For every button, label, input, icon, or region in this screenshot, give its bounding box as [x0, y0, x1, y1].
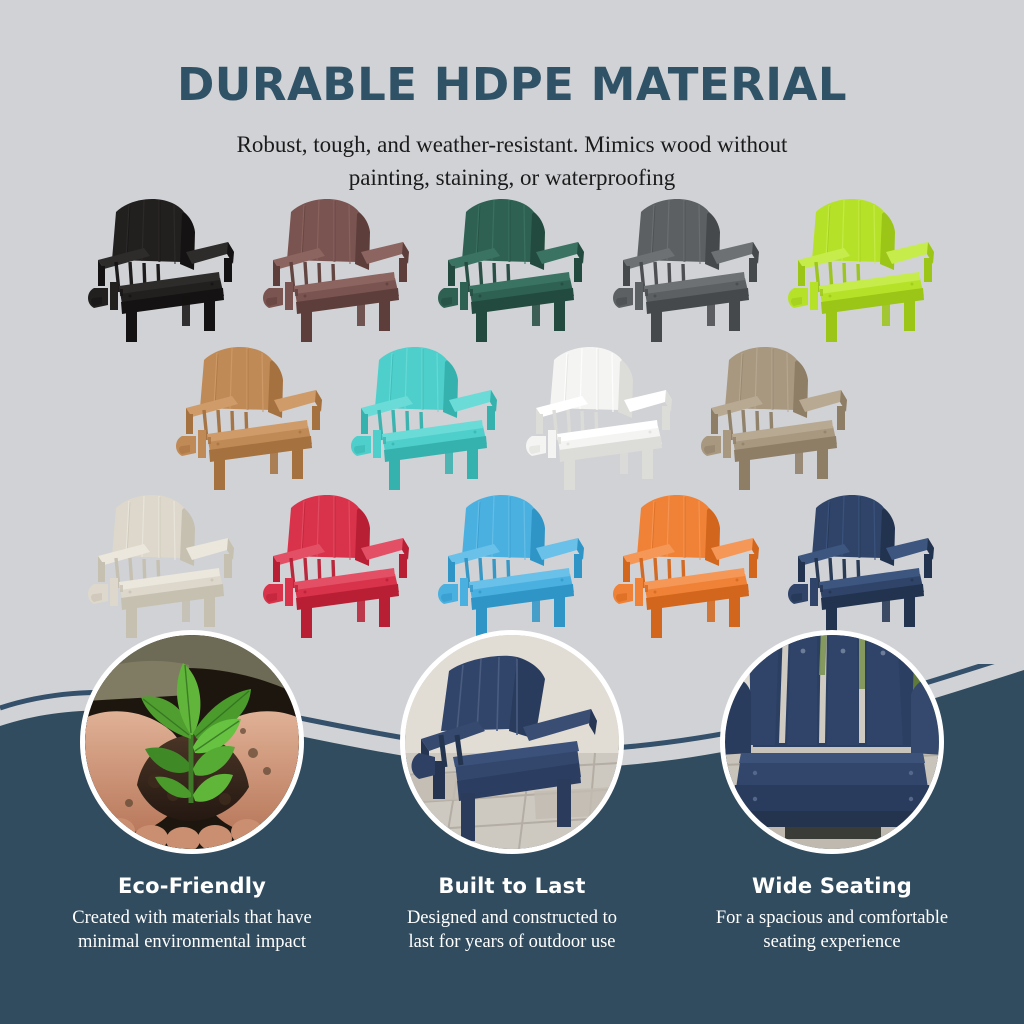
feature-image-wide-seating — [720, 630, 944, 854]
feature-image-built-to-last — [400, 630, 624, 854]
feature-description: Created with materials that have minimal… — [72, 898, 312, 955]
chair-turquoise — [349, 344, 501, 492]
feature-title: Wide Seating — [712, 854, 952, 898]
subtitle-line-1: Robust, tough, and weather-resistant. Mi… — [237, 132, 788, 157]
chair-swatch-white[interactable] — [512, 344, 687, 492]
chair-swatch-light-blue[interactable] — [425, 492, 600, 640]
feature-eco-friendly: Eco-Friendly Created with materials that… — [72, 630, 312, 955]
feature-list: Eco-Friendly Created with materials that… — [0, 630, 1024, 955]
chair-dark-green — [436, 196, 588, 344]
feature-desc-line-1: Designed and constructed to — [407, 908, 617, 928]
feature-built-to-last: Built to Last Designed and constructed t… — [392, 630, 632, 955]
chair-orange — [611, 492, 763, 640]
chair-red — [261, 492, 413, 640]
feature-desc-line-2: last for years of outdoor use — [408, 932, 615, 952]
feature-description: Designed and constructed to last for yea… — [392, 898, 632, 955]
chair-swatch-navy-blue[interactable] — [775, 492, 950, 640]
navy-chair-wide-seat-icon — [725, 635, 939, 849]
page-title: DURABLE HDPE MATERIAL — [0, 0, 1024, 111]
chair-swatch-black[interactable] — [75, 196, 250, 344]
chair-swatch-orange[interactable] — [600, 492, 775, 640]
chair-ivory — [86, 492, 238, 640]
chair-light-blue — [436, 492, 588, 640]
chair-row-1 — [0, 196, 1024, 344]
chair-lime-green — [786, 196, 938, 344]
feature-desc-line-2: minimal environmental impact — [78, 932, 306, 952]
chair-navy-blue — [786, 492, 938, 640]
feature-desc-line-1: For a spacious and comfortable — [716, 908, 948, 928]
feature-wide-seating: Wide Seating For a spacious and comforta… — [712, 630, 952, 955]
chair-swatch-turquoise[interactable] — [337, 344, 512, 492]
feature-image-eco-friendly — [80, 630, 304, 854]
feature-title: Built to Last — [392, 854, 632, 898]
chair-brown — [261, 196, 413, 344]
chair-swatch-ivory[interactable] — [75, 492, 250, 640]
chair-black — [86, 196, 238, 344]
subtitle-line-2: painting, staining, or waterproofing — [349, 165, 675, 190]
chair-row-3 — [0, 492, 1024, 640]
feature-desc-line-2: seating experience — [763, 932, 900, 952]
chair-swatch-red[interactable] — [250, 492, 425, 640]
chair-swatch-dark-green[interactable] — [425, 196, 600, 344]
chair-swatch-khaki[interactable] — [687, 344, 862, 492]
feature-description: For a spacious and comfortable seating e… — [712, 898, 952, 955]
chair-swatch-brown[interactable] — [250, 196, 425, 344]
chair-teak-brown — [174, 344, 326, 492]
chair-swatch-teak-brown[interactable] — [162, 344, 337, 492]
chair-khaki — [699, 344, 851, 492]
chair-row-2 — [0, 344, 1024, 492]
infographic-page: DURABLE HDPE MATERIAL Robust, tough, and… — [0, 0, 1024, 1024]
chair-swatch-lime-green[interactable] — [775, 196, 950, 344]
feature-desc-line-1: Created with materials that have — [72, 908, 311, 928]
hands-soil-seedling-icon — [85, 635, 299, 849]
navy-chair-patio-icon — [405, 635, 619, 849]
chair-swatch-gray[interactable] — [600, 196, 775, 344]
page-subtitle: Robust, tough, and weather-resistant. Mi… — [0, 111, 1024, 194]
feature-title: Eco-Friendly — [72, 854, 312, 898]
chair-gray — [611, 196, 763, 344]
chair-white — [524, 344, 676, 492]
chair-color-grid — [0, 196, 1024, 640]
header: DURABLE HDPE MATERIAL Robust, tough, and… — [0, 0, 1024, 194]
